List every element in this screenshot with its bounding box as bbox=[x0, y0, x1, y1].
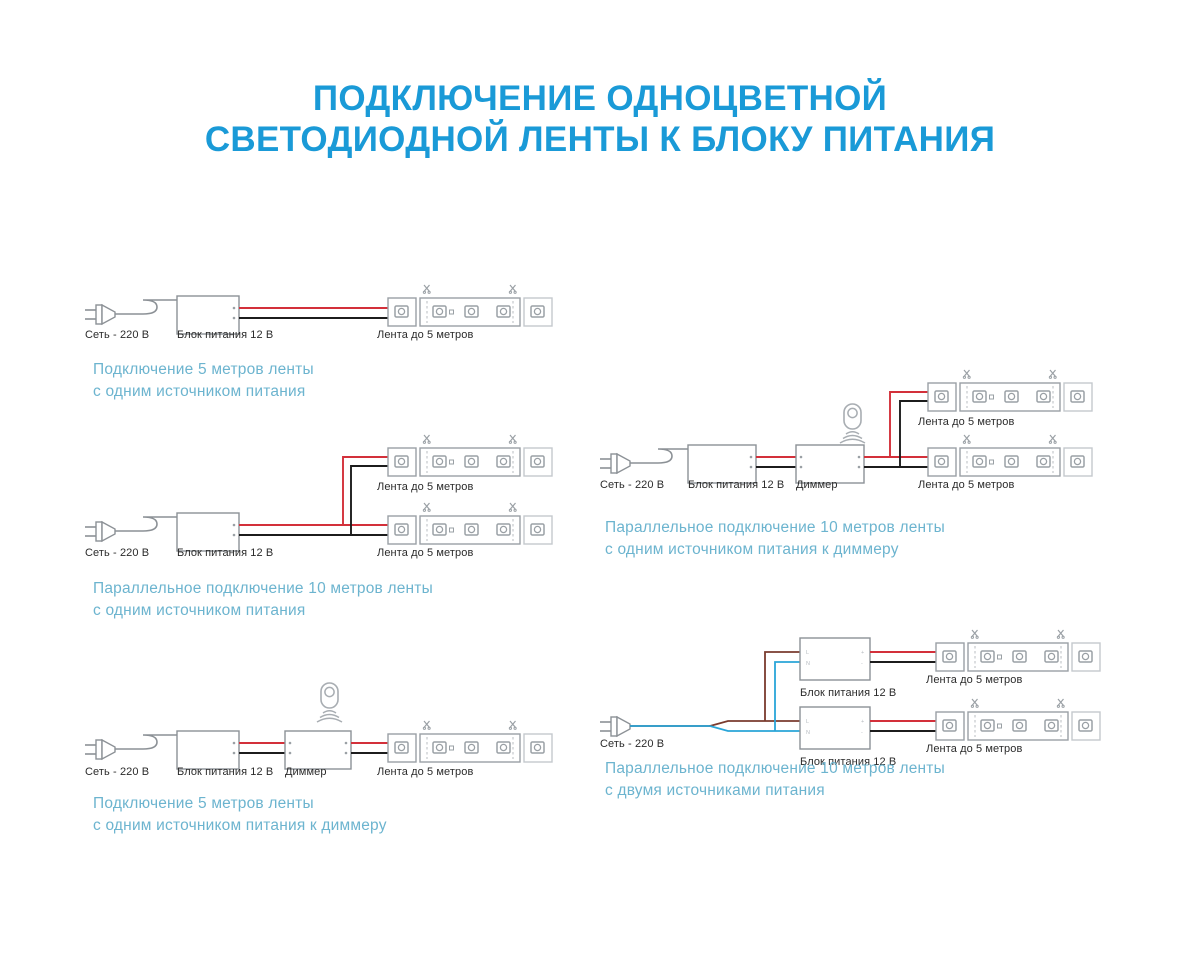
caption-diagram-4: Параллельное подключение 10 метров ленты… bbox=[605, 517, 945, 561]
ac-wire-neutral bbox=[710, 726, 800, 731]
label-psu-1: Блок питания 12 В bbox=[177, 329, 273, 341]
label-strip-5b: Лента до 5 метров bbox=[926, 743, 1022, 755]
label-strip-4a: Лента до 5 метров bbox=[918, 416, 1014, 428]
diagram-3-canvas bbox=[85, 683, 585, 778]
label-strip-2a: Лента до 5 метров bbox=[377, 481, 473, 493]
power-plug-icon bbox=[600, 449, 688, 473]
terminal-label-live: L bbox=[806, 719, 809, 725]
caption-diagram-3: Подключение 5 метров ленты с одним источ… bbox=[93, 793, 387, 837]
label-mains-2: Сеть - 220 В bbox=[85, 547, 149, 559]
page-title: ПОДКЛЮЧЕНИЕ ОДНОЦВЕТНОЙ СВЕТОДИОДНОЙ ЛЕН… bbox=[0, 78, 1200, 160]
caption-2-line-1: Параллельное подключение 10 метров ленты bbox=[93, 578, 433, 600]
ac-wire-live bbox=[710, 721, 800, 726]
page-title-line-2: СВЕТОДИОДНОЙ ЛЕНТЫ К БЛОКУ ПИТАНИЯ bbox=[0, 119, 1200, 160]
label-psu-3: Блок питания 12 В bbox=[177, 766, 273, 778]
diagram-2-canvas bbox=[85, 440, 585, 560]
caption-5-line-1: Параллельное подключение 10 метров ленты bbox=[605, 758, 945, 780]
remote-control-icon bbox=[317, 683, 342, 722]
dc-wire-positive bbox=[239, 457, 390, 525]
label-dimmer-4: Диммер bbox=[796, 479, 838, 491]
label-strip-4b: Лента до 5 метров bbox=[918, 479, 1014, 491]
label-mains-3: Сеть - 220 В bbox=[85, 766, 149, 778]
terminal-label-minus: - bbox=[861, 730, 863, 736]
led-strip bbox=[928, 435, 1092, 476]
label-strip-2b: Лента до 5 метров bbox=[377, 547, 473, 559]
caption-4-line-1: Параллельное подключение 10 метров ленты bbox=[605, 517, 945, 539]
led-strip bbox=[388, 285, 552, 326]
diagram-1-canvas bbox=[85, 283, 585, 343]
power-plug-icon bbox=[85, 300, 177, 324]
caption-diagram-1: Подключение 5 метров ленты с одним источ… bbox=[93, 359, 314, 403]
caption-4-line-2: с одним источником питания к диммеру bbox=[605, 539, 945, 561]
caption-1-line-2: с одним источником питания bbox=[93, 381, 314, 403]
label-mains-5: Сеть - 220 В bbox=[600, 738, 664, 750]
diagram-single-strip-dimmer: Сеть - 220 В Блок питания 12 В Диммер Ле… bbox=[85, 683, 585, 778]
power-plug-icon bbox=[85, 735, 177, 759]
caption-3-line-2: с одним источником питания к диммеру bbox=[93, 815, 387, 837]
power-supply-unit: L N + - bbox=[800, 638, 870, 680]
diagram-two-strips-dimmer: Лента до 5 метров Сеть - 220 В Блок пита… bbox=[600, 372, 1120, 492]
label-mains-1: Сеть - 220 В bbox=[85, 329, 149, 341]
terminal-label-neutral: N bbox=[806, 730, 810, 736]
power-plug-icon bbox=[85, 517, 177, 541]
label-psu-4: Блок питания 12 В bbox=[688, 479, 784, 491]
led-strip bbox=[936, 630, 1100, 671]
dimmer-unit bbox=[796, 445, 864, 483]
dimmer-unit bbox=[285, 731, 351, 769]
led-strip bbox=[928, 370, 1092, 411]
label-mains-4: Сеть - 220 В bbox=[600, 479, 664, 491]
page-title-line-1: ПОДКЛЮЧЕНИЕ ОДНОЦВЕТНОЙ bbox=[0, 78, 1200, 119]
caption-diagram-5: Параллельное подключение 10 метров ленты… bbox=[605, 758, 945, 802]
led-strip bbox=[388, 435, 552, 476]
power-plug-icon bbox=[600, 652, 800, 736]
label-strip-5a: Лента до 5 метров bbox=[926, 674, 1022, 686]
remote-control-icon bbox=[840, 404, 865, 443]
terminal-label-minus: - bbox=[861, 661, 863, 667]
caption-3-line-1: Подключение 5 метров ленты bbox=[93, 793, 387, 815]
terminal-label-neutral: N bbox=[806, 661, 810, 667]
led-strip bbox=[936, 699, 1100, 740]
power-supply-unit: L N + - bbox=[800, 707, 870, 749]
label-strip-1: Лента до 5 метров bbox=[377, 329, 473, 341]
caption-diagram-2: Параллельное подключение 10 метров ленты… bbox=[93, 578, 433, 622]
terminal-label-plus: + bbox=[861, 650, 864, 656]
label-strip-3: Лента до 5 метров bbox=[377, 766, 473, 778]
power-supply-unit bbox=[177, 731, 239, 769]
power-supply-unit bbox=[177, 513, 239, 551]
terminal-label-plus: + bbox=[861, 719, 864, 725]
caption-5-line-2: с двумя источниками питания bbox=[605, 780, 945, 802]
diagram-4-canvas bbox=[600, 372, 1120, 492]
diagram-two-strips-single-psu: Лента до 5 метров Сеть - 220 В Блок пита… bbox=[85, 440, 585, 560]
led-strip bbox=[388, 503, 552, 544]
diagram-two-strips-two-psu: L N + - L N + - bbox=[600, 625, 1120, 755]
diagram-single-strip-single-psu: Сеть - 220 В Блок питания 12 В Лента до … bbox=[85, 283, 585, 343]
caption-1-line-1: Подключение 5 метров ленты bbox=[93, 359, 314, 381]
caption-2-line-2: с одним источником питания bbox=[93, 600, 433, 622]
terminal-label-live: L bbox=[806, 650, 809, 656]
label-psu-5a: Блок питания 12 В bbox=[800, 687, 896, 699]
label-psu-2: Блок питания 12 В bbox=[177, 547, 273, 559]
led-strip bbox=[388, 721, 552, 762]
power-supply-unit bbox=[688, 445, 756, 483]
label-dimmer-3: Диммер bbox=[285, 766, 327, 778]
